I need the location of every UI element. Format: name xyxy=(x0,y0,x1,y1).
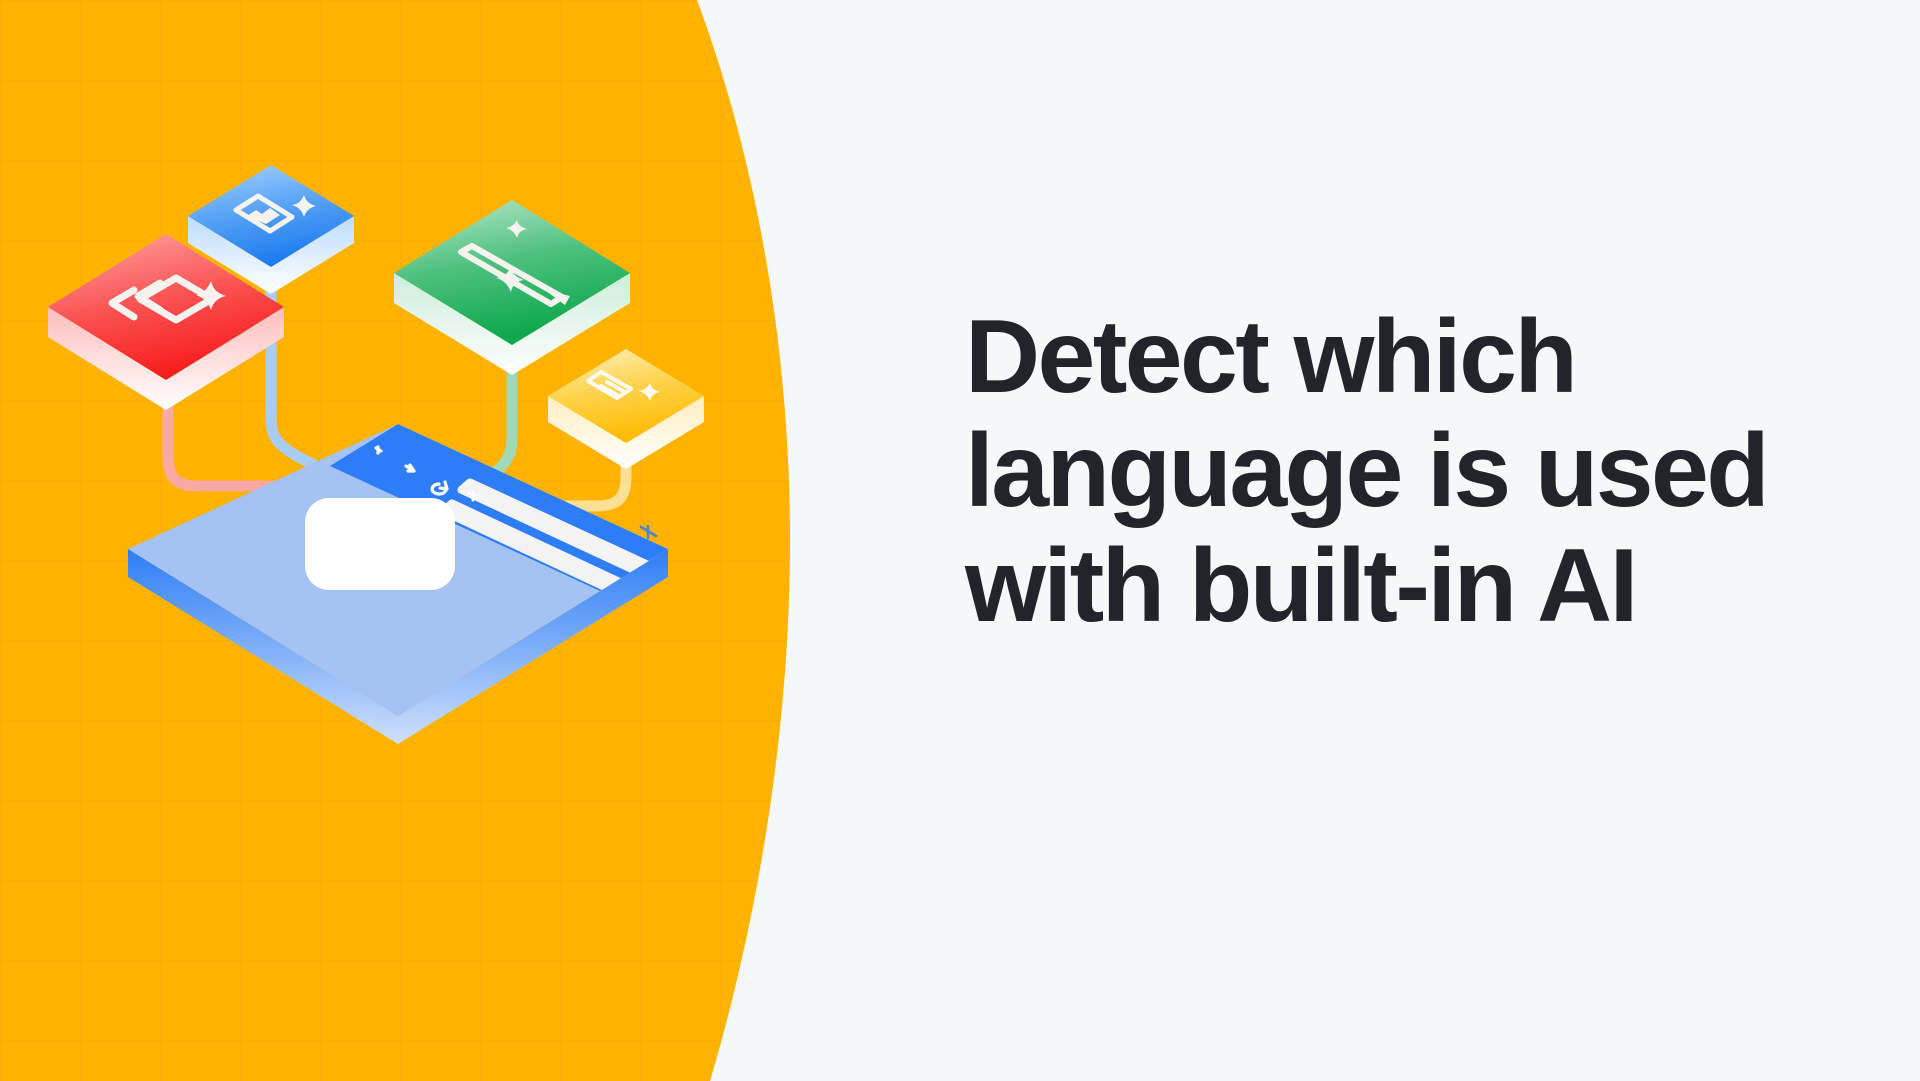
ai-output-card xyxy=(305,498,455,590)
browser-window-platform xyxy=(128,424,668,744)
page-root: Detect which language is used with built… xyxy=(0,0,1920,1081)
tile-writer xyxy=(394,200,630,375)
page-title: Detect which language is used with built… xyxy=(965,300,1785,643)
platform-plus-icon xyxy=(641,526,656,538)
tile-summarizer xyxy=(548,349,704,469)
isometric-illustration xyxy=(0,0,900,1081)
headline-block: Detect which language is used with built… xyxy=(965,300,1785,643)
